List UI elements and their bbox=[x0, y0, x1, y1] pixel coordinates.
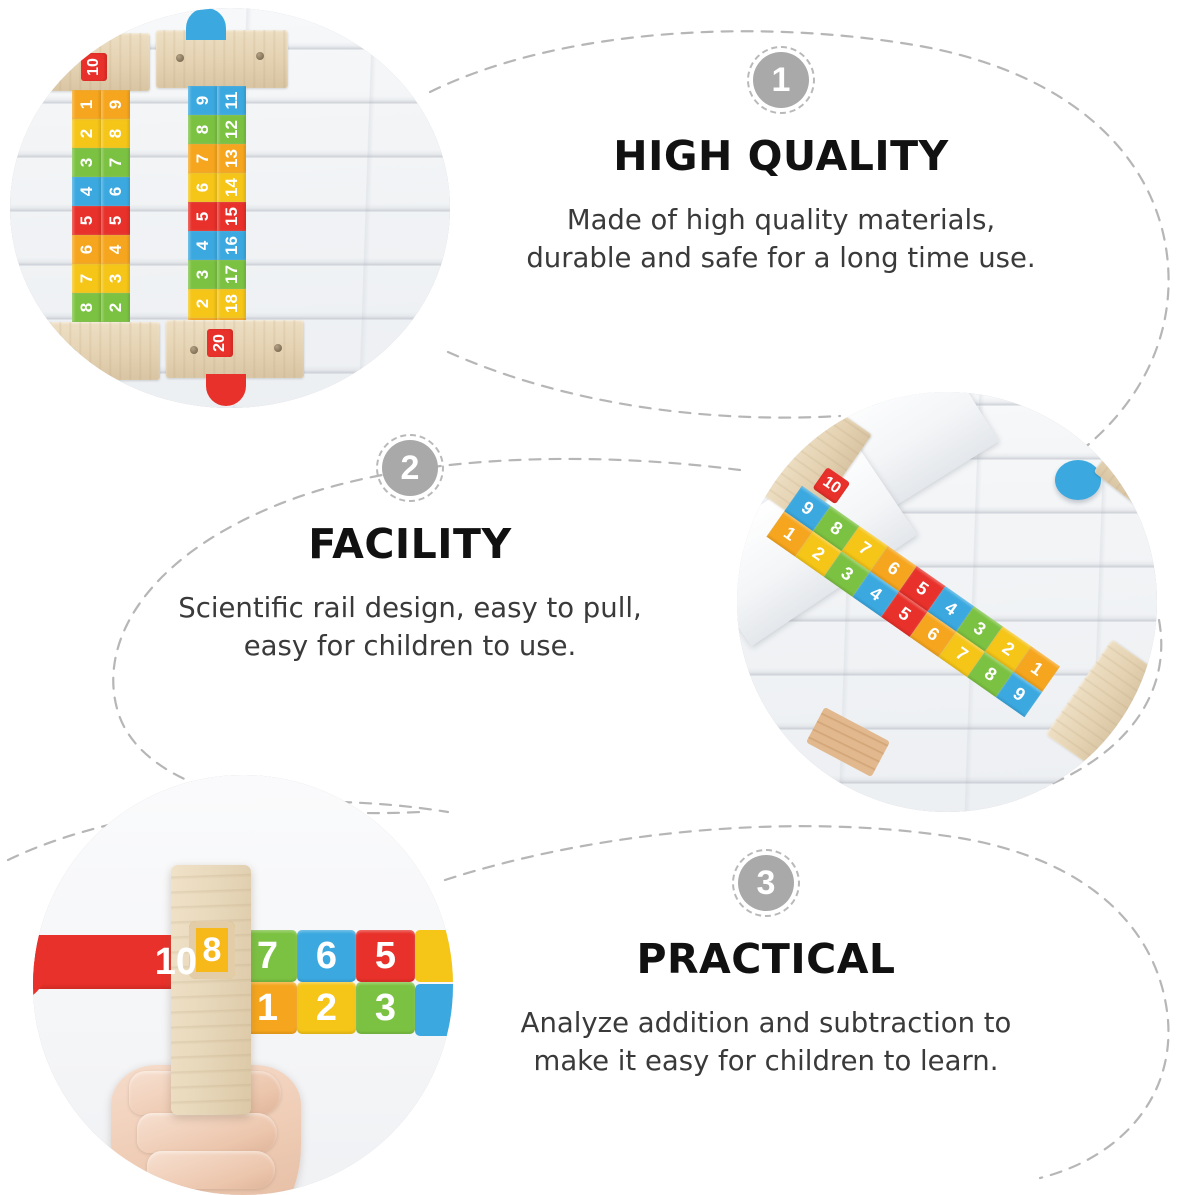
knob-blue-top bbox=[186, 8, 226, 40]
number-tile: 11 bbox=[217, 86, 246, 115]
step-badge-3: 3 bbox=[738, 855, 794, 911]
number-tile: 7 bbox=[72, 264, 101, 293]
rail-row: 812 bbox=[188, 115, 246, 144]
number-tile: 15 bbox=[217, 202, 246, 231]
rail-row: 614 bbox=[188, 173, 246, 202]
rail-row: 46 bbox=[72, 177, 130, 206]
wood-bar-bottom-left bbox=[32, 322, 160, 380]
number-tile: 4 bbox=[101, 235, 130, 264]
number-tile: 12 bbox=[217, 115, 246, 144]
number-tile: 2 bbox=[188, 289, 217, 318]
number-tile: 6 bbox=[188, 173, 217, 202]
step-badge-2: 2 bbox=[382, 440, 438, 496]
number-rail-left: 192837465564738291 bbox=[72, 90, 130, 351]
number-track: 765123 bbox=[238, 930, 415, 1034]
step-number: 1 bbox=[772, 61, 791, 100]
slider-label: 10 bbox=[155, 941, 197, 984]
number-tile: 5 bbox=[188, 202, 217, 231]
screw-icon bbox=[256, 52, 264, 60]
slider-wooden-block[interactable]: 8 bbox=[171, 865, 251, 1115]
rail-row: 416 bbox=[188, 231, 246, 260]
finger-ring bbox=[147, 1151, 275, 1189]
section-2: 2 FACILITY Scientific rail design, easy … bbox=[115, 440, 705, 666]
rail-row: 515 bbox=[188, 202, 246, 231]
number-tile: 17 bbox=[217, 260, 246, 289]
rail-row: 218 bbox=[188, 289, 246, 318]
tile-partial-top bbox=[415, 930, 453, 982]
rail-row: 82 bbox=[72, 293, 130, 322]
tile-badge-20: 20 bbox=[207, 329, 233, 357]
screw-icon bbox=[274, 344, 282, 352]
rail-row: 28 bbox=[72, 119, 130, 148]
number-tile: 1 bbox=[72, 90, 101, 119]
number-tile: 5 bbox=[72, 206, 101, 235]
section-title: PRACTICAL bbox=[466, 935, 1066, 983]
number-tile: 6 bbox=[101, 177, 130, 206]
number-tile: 3 bbox=[101, 264, 130, 293]
number-tile: 14 bbox=[217, 173, 246, 202]
section-title: FACILITY bbox=[115, 520, 705, 568]
number-tile: 8 bbox=[72, 293, 101, 322]
number-tile: 4 bbox=[72, 177, 101, 206]
rail-row: 911 bbox=[188, 86, 246, 115]
track-row-bottom: 123 bbox=[238, 982, 415, 1034]
section-title: HIGH QUALITY bbox=[486, 132, 1076, 180]
step-number: 3 bbox=[757, 864, 776, 903]
slider-red-bar: 10 bbox=[33, 935, 211, 989]
wood-bar-bottom-right bbox=[166, 320, 304, 378]
rail-row: 73 bbox=[72, 264, 130, 293]
rail-row: 19 bbox=[72, 90, 130, 119]
product-photo-diagonal-rail: 10 987654321123456789 bbox=[737, 392, 1157, 812]
number-tile: 8 bbox=[101, 119, 130, 148]
rail-row: 55 bbox=[72, 206, 130, 235]
number-tile: 3 bbox=[188, 260, 217, 289]
number-tile: 13 bbox=[217, 144, 246, 173]
tile-partial-bottom bbox=[415, 984, 453, 1036]
tile-badge-10: 10 bbox=[81, 53, 107, 81]
section-body: Analyze addition and subtraction to make… bbox=[466, 1005, 1066, 1081]
number-tile: 18 bbox=[217, 289, 246, 318]
track-row-top: 765 bbox=[238, 930, 415, 982]
section-body: Scientific rail design, easy to pull, ea… bbox=[115, 590, 705, 666]
number-tile: 7 bbox=[101, 148, 130, 177]
rail-row: 317 bbox=[188, 260, 246, 289]
screw-icon bbox=[176, 54, 184, 62]
infographic-root: 10 192837465564738291 911812713614515416… bbox=[0, 0, 1183, 1190]
number-tile: 2 bbox=[297, 982, 356, 1034]
number-tile: 6 bbox=[72, 235, 101, 264]
rail-row: 713 bbox=[188, 144, 246, 173]
section-body: Made of high quality materials, durable … bbox=[486, 202, 1076, 278]
number-tile: 6 bbox=[297, 930, 356, 982]
number-tile: 3 bbox=[72, 148, 101, 177]
number-tile: 2 bbox=[72, 119, 101, 148]
step-badge-1: 1 bbox=[753, 52, 809, 108]
number-tile: 5 bbox=[101, 206, 130, 235]
number-tile: 16 bbox=[217, 231, 246, 260]
section-1: 1 HIGH QUALITY Made of high quality mate… bbox=[486, 52, 1076, 278]
number-tile: 7 bbox=[188, 144, 217, 173]
number-tile: 9 bbox=[188, 86, 217, 115]
finger-middle bbox=[137, 1113, 277, 1153]
number-tile: 8 bbox=[188, 115, 217, 144]
rail-row: 64 bbox=[72, 235, 130, 264]
number-tile: 9 bbox=[101, 90, 130, 119]
loose-blue-knob bbox=[1055, 460, 1101, 500]
screw-icon bbox=[190, 346, 198, 354]
number-tile: 3 bbox=[356, 982, 415, 1034]
product-photo-two-rails: 10 192837465564738291 911812713614515416… bbox=[10, 8, 450, 408]
section-3: 3 PRACTICAL Analyze addition and subtrac… bbox=[466, 855, 1066, 1081]
product-photo-hand-slider: 10 765123 8 bbox=[33, 775, 453, 1195]
number-tile: 4 bbox=[188, 231, 217, 260]
knob-red-top bbox=[70, 8, 110, 40]
step-number: 2 bbox=[401, 449, 420, 488]
rail-row: 37 bbox=[72, 148, 130, 177]
number-tile: 5 bbox=[356, 930, 415, 982]
number-tile: 2 bbox=[101, 293, 130, 322]
number-rail-right: 911812713614515416317218119 bbox=[188, 86, 246, 347]
